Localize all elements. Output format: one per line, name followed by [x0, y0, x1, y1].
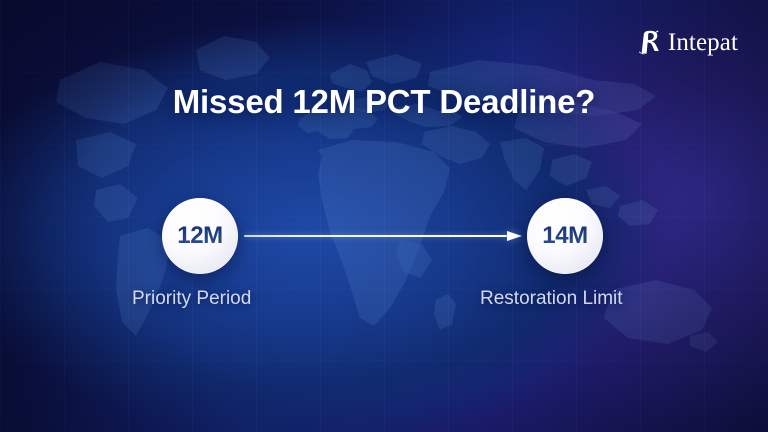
- node-priority-period: 12M: [162, 198, 238, 274]
- arrow-right-icon: [244, 231, 522, 242]
- caption-priority-period: Priority Period: [132, 288, 251, 310]
- node-restoration-limit: 14M: [527, 198, 603, 274]
- node-value-12m: 12M: [177, 222, 223, 250]
- arrow-head: [507, 231, 522, 241]
- arrow-shaft: [244, 235, 507, 237]
- timeline-flow-diagram: 12M 14M: [0, 198, 768, 274]
- brand-logo: Intepat: [637, 27, 738, 57]
- node-value-14m: 14M: [542, 222, 588, 250]
- intepat-r-monogram-icon: [637, 29, 663, 56]
- caption-restoration-limit: Restoration Limit: [480, 288, 623, 310]
- slide-canvas: Intepat Missed 12M PCT Deadline? 12M 14M…: [0, 0, 768, 432]
- brand-name: Intepat: [668, 30, 738, 55]
- page-title: Missed 12M PCT Deadline?: [0, 82, 768, 122]
